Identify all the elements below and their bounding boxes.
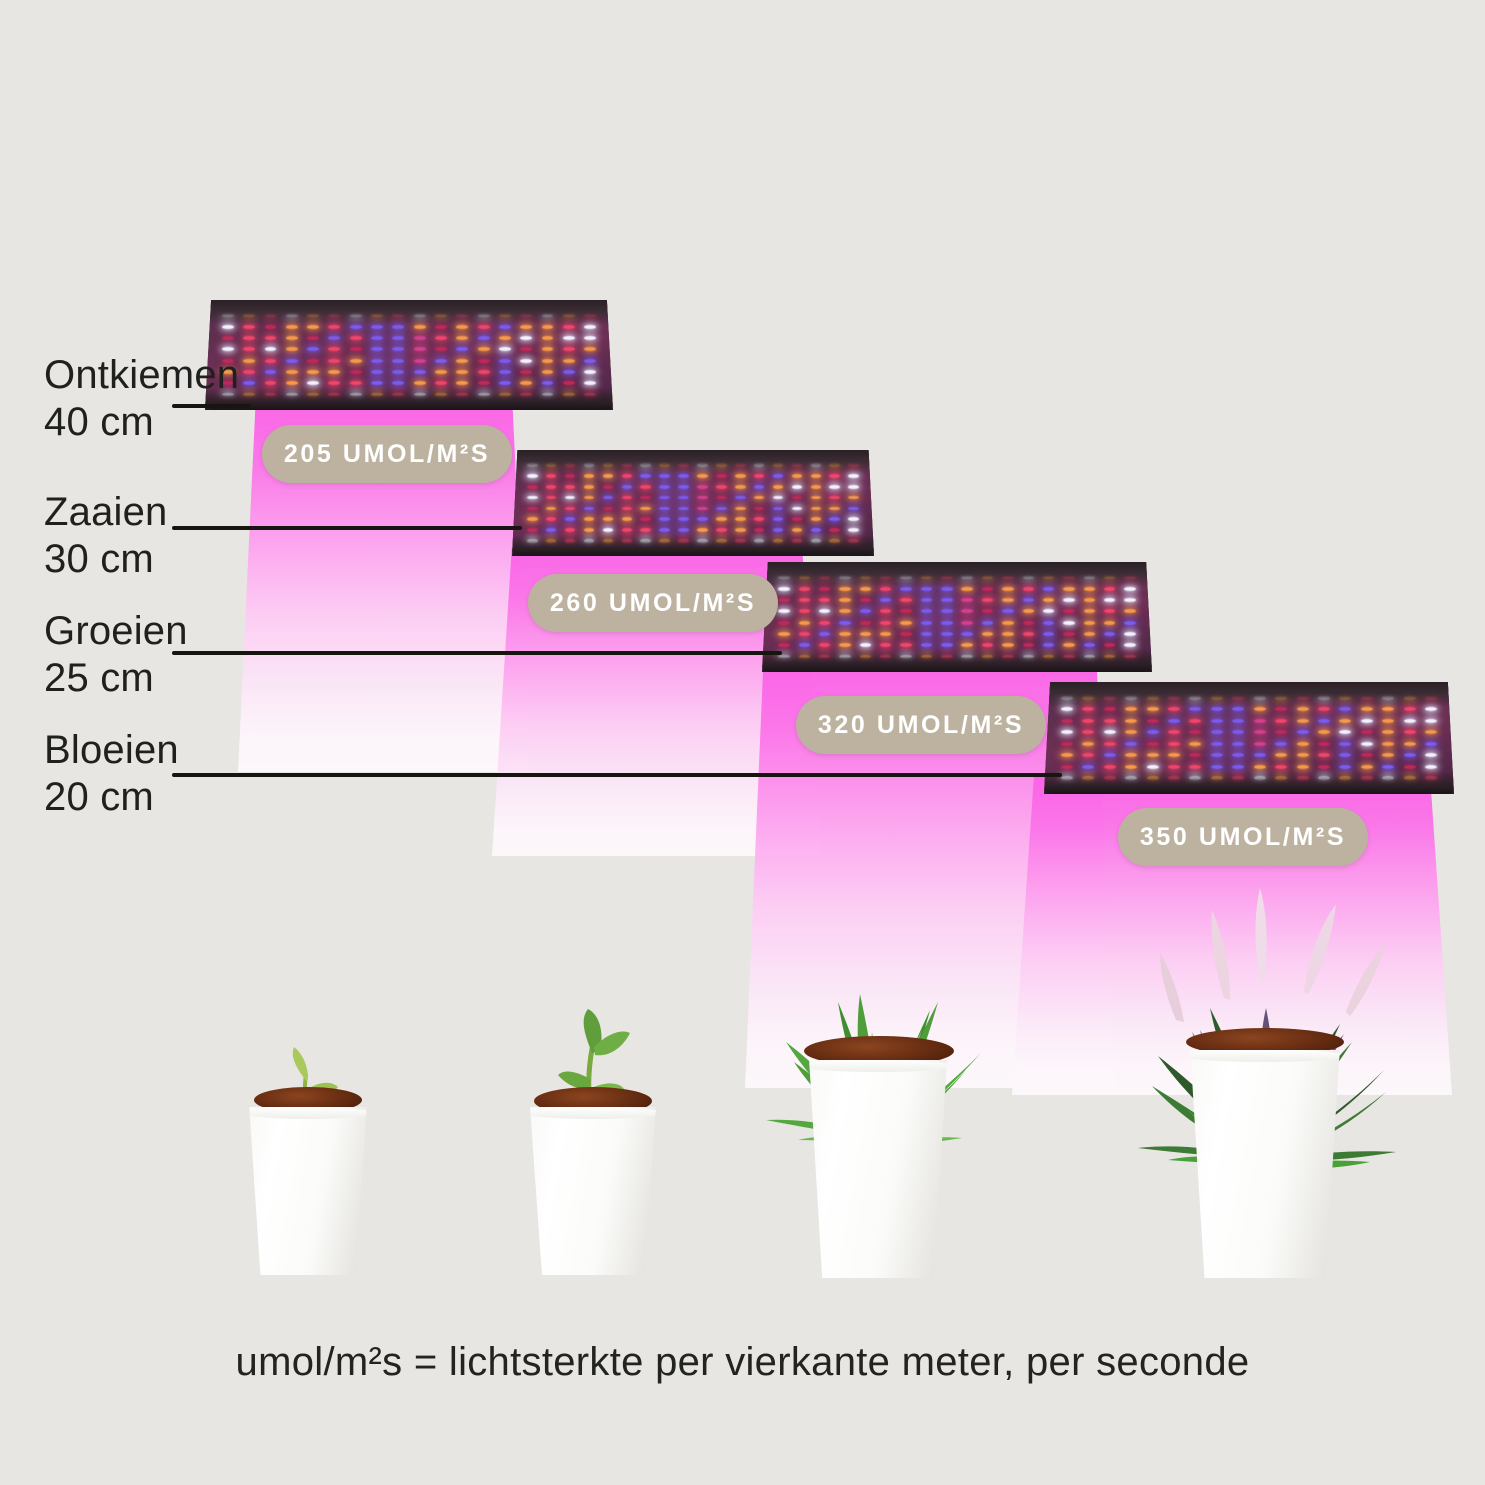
led-dot (307, 393, 319, 397)
led-dot (328, 381, 340, 385)
led-dot (1297, 742, 1309, 746)
led-dot (1404, 776, 1416, 780)
led-dot (1232, 696, 1244, 700)
led-dot (414, 381, 426, 385)
led-dot (243, 370, 255, 374)
led-dot (678, 485, 689, 489)
led-dot (1211, 707, 1223, 711)
led-dot (456, 393, 468, 397)
led-dot (1339, 696, 1351, 700)
led-dot (435, 325, 447, 329)
led-dot (1125, 696, 1137, 700)
led-dot (799, 609, 810, 613)
led-dot (1254, 719, 1266, 723)
led-dot (829, 528, 840, 532)
led-dot (478, 325, 490, 329)
led-dot (659, 507, 670, 511)
led-dot (1061, 776, 1073, 780)
led-dot (1168, 730, 1180, 734)
led-dot (499, 393, 511, 397)
led-dot (659, 528, 670, 532)
led-dot (546, 539, 557, 543)
led-dot (941, 598, 952, 602)
led-dot (1168, 776, 1180, 780)
led-dot (1297, 776, 1309, 780)
led-dot (371, 336, 383, 340)
led-dot (1084, 609, 1095, 613)
led-dot (716, 517, 727, 521)
led-dot (961, 609, 972, 613)
led-dot (792, 507, 803, 511)
led-dot (829, 463, 840, 467)
led-dot (961, 598, 972, 602)
led-dot (456, 359, 468, 363)
led-dot (622, 507, 633, 511)
led-dot (1084, 655, 1095, 659)
led-dot (735, 507, 746, 511)
led-grid (1056, 692, 1441, 784)
led-dot (527, 507, 538, 511)
led-dot (265, 325, 277, 329)
led-dot (1043, 576, 1054, 580)
led-dot (478, 347, 490, 351)
led-dot (792, 485, 803, 489)
led-dot (1275, 742, 1287, 746)
led-dot (1061, 730, 1073, 734)
led-dot (754, 528, 765, 532)
led-dot (1104, 576, 1115, 580)
led-dot (1232, 719, 1244, 723)
led-dot (697, 528, 708, 532)
led-dot (716, 463, 727, 467)
ppfd-badge-groeien: 320 UMOL/M²S (796, 696, 1046, 754)
led-dot (1104, 719, 1116, 723)
led-dot (414, 393, 426, 397)
led-dot (1211, 765, 1223, 769)
led-dot (982, 621, 993, 625)
led-dot (1124, 643, 1135, 647)
led-dot (435, 347, 447, 351)
led-dot (1361, 730, 1373, 734)
led-dot (773, 539, 784, 543)
led-dot (754, 507, 765, 511)
led-dot (678, 463, 689, 467)
led-dot (1361, 707, 1373, 711)
led-dot (819, 621, 830, 625)
led-dot (1043, 632, 1054, 636)
led-dot (1104, 753, 1116, 757)
led-dot (829, 474, 840, 478)
led-dot (527, 496, 538, 500)
led-dot (584, 528, 595, 532)
led-dot (1318, 742, 1330, 746)
led-dot (563, 370, 575, 374)
led-dot (307, 347, 319, 351)
led-dot (1404, 707, 1416, 711)
led-dot (1168, 696, 1180, 700)
led-dot (546, 528, 557, 532)
led-dot (697, 507, 708, 511)
led-dot (982, 576, 993, 580)
led-dot (1254, 730, 1266, 734)
led-dot (1318, 696, 1330, 700)
led-dot (941, 643, 952, 647)
led-dot (848, 474, 859, 478)
led-dot (307, 325, 319, 329)
led-dot (1361, 719, 1373, 723)
led-dot (659, 517, 670, 521)
led-dot (435, 393, 447, 397)
led-dot (678, 517, 689, 521)
ppfd-badge-zaaien: 260 UMOL/M²S (528, 574, 778, 632)
led-dot (499, 359, 511, 363)
led-dot (1254, 707, 1266, 711)
led-dot (520, 381, 532, 385)
led-dot (286, 393, 298, 397)
led-dot (941, 655, 952, 659)
led-dot (839, 643, 850, 647)
led-dot (563, 336, 575, 340)
led-dot (1361, 765, 1373, 769)
led-dot (1061, 719, 1073, 723)
led-dot (328, 393, 340, 397)
led-dot (921, 609, 932, 613)
led-dot (1297, 707, 1309, 711)
led-dot (659, 485, 670, 489)
led-dot (1168, 753, 1180, 757)
led-dot (1084, 621, 1095, 625)
led-dot (1254, 776, 1266, 780)
led-dot (860, 655, 871, 659)
led-dot (622, 463, 633, 467)
led-dot (1168, 742, 1180, 746)
led-dot (1147, 696, 1159, 700)
led-dot (414, 314, 426, 318)
led-dot (584, 393, 596, 397)
stage-name: Groeien (44, 609, 188, 653)
led-dot (778, 632, 789, 636)
led-dot (697, 496, 708, 500)
led-dot (563, 381, 575, 385)
led-dot (900, 576, 911, 580)
led-dot (328, 359, 340, 363)
led-dot (1425, 707, 1437, 711)
led-dot (307, 336, 319, 340)
led-dot (1382, 707, 1394, 711)
led-dot (1125, 742, 1137, 746)
led-dot (1275, 776, 1287, 780)
led-dot (921, 655, 932, 659)
led-dot (678, 539, 689, 543)
led-dot (1404, 765, 1416, 769)
led-dot (1104, 587, 1115, 591)
led-dot (754, 496, 765, 500)
plant-pot (796, 1060, 960, 1278)
led-dot (414, 325, 426, 329)
led-dot (1082, 776, 1094, 780)
led-dot (792, 517, 803, 521)
led-dot (307, 381, 319, 385)
led-dot (1084, 598, 1095, 602)
led-dot (1125, 719, 1137, 723)
led-dot (1382, 696, 1394, 700)
led-dot (773, 485, 784, 489)
led-dot (1061, 753, 1073, 757)
led-dot (839, 587, 850, 591)
led-dot (1254, 742, 1266, 746)
led-dot (1425, 765, 1437, 769)
led-dot (563, 314, 575, 318)
led-dot (350, 336, 362, 340)
led-dot (1104, 632, 1115, 636)
led-dot (735, 485, 746, 489)
led-dot (1425, 776, 1437, 780)
led-dot (527, 517, 538, 521)
led-dot (811, 539, 822, 543)
led-dot (350, 370, 362, 374)
led-dot (499, 336, 511, 340)
led-dot (1211, 753, 1223, 757)
led-dot (527, 539, 538, 543)
led-dot (1043, 587, 1054, 591)
led-dot (1254, 696, 1266, 700)
led-dot (900, 609, 911, 613)
led-dot (499, 325, 511, 329)
led-dot (860, 587, 871, 591)
led-dot (1061, 742, 1073, 746)
led-dot (961, 621, 972, 625)
led-dot (392, 347, 404, 351)
led-dot (1254, 753, 1266, 757)
led-dot (584, 496, 595, 500)
led-dot (1189, 742, 1201, 746)
led-dot (697, 485, 708, 489)
led-dot (456, 381, 468, 385)
led-dot (1275, 753, 1287, 757)
led-dot (773, 496, 784, 500)
led-dot (1043, 655, 1054, 659)
led-dot (819, 655, 830, 659)
led-dot (941, 632, 952, 636)
led-dot (1063, 621, 1074, 625)
panel-surface (512, 450, 874, 556)
led-dot (811, 517, 822, 521)
led-dot (265, 370, 277, 374)
stage-name: Zaaien (44, 490, 168, 534)
led-dot (716, 485, 727, 489)
led-dot (1232, 707, 1244, 711)
led-dot (1023, 609, 1034, 613)
led-dot (900, 643, 911, 647)
led-dot (1104, 707, 1116, 711)
led-dot (1002, 643, 1013, 647)
led-dot (499, 347, 511, 351)
led-dot (1189, 730, 1201, 734)
led-dot (371, 370, 383, 374)
led-dot (265, 314, 277, 318)
led-dot (799, 621, 810, 625)
led-dot (546, 507, 557, 511)
led-dot (819, 598, 830, 602)
led-dot (716, 539, 727, 543)
led-dot (1125, 707, 1137, 711)
led-dot (839, 632, 850, 636)
led-dot (1297, 730, 1309, 734)
led-dot (754, 517, 765, 521)
led-dot (603, 496, 614, 500)
led-dot (799, 598, 810, 602)
led-dot (286, 381, 298, 385)
led-dot (839, 655, 850, 659)
led-dot (941, 576, 952, 580)
led-dot (848, 496, 859, 500)
led-dot (880, 621, 891, 625)
led-dot (392, 381, 404, 385)
led-dot (1404, 753, 1416, 757)
led-dot (716, 507, 727, 511)
led-panel-groeien[interactable] (762, 562, 1152, 672)
led-dot (799, 655, 810, 659)
led-dot (1104, 730, 1116, 734)
stage-distance: 40 cm (44, 399, 239, 446)
stage-distance: 25 cm (44, 655, 188, 702)
led-dot (350, 359, 362, 363)
led-dot (1023, 621, 1034, 625)
led-dot (773, 507, 784, 511)
led-panel-bloeien[interactable] (1044, 682, 1454, 794)
led-dot (1084, 643, 1095, 647)
led-dot (1023, 643, 1034, 647)
led-dot (1318, 719, 1330, 723)
led-dot (328, 314, 340, 318)
led-dot (880, 598, 891, 602)
stage-distance: 30 cm (44, 536, 168, 583)
led-dot (1104, 776, 1116, 780)
led-dot (1082, 696, 1094, 700)
led-dot (1275, 707, 1287, 711)
led-dot (622, 474, 633, 478)
led-dot (584, 474, 595, 478)
ppfd-badge-ontkiemen: 205 UMOL/M²S (262, 425, 512, 483)
led-dot (1147, 753, 1159, 757)
led-dot (819, 587, 830, 591)
led-dot (1168, 765, 1180, 769)
led-dot (1043, 609, 1054, 613)
led-dot (222, 314, 234, 318)
led-dot (456, 347, 468, 351)
led-dot (1211, 730, 1223, 734)
led-dot (1147, 776, 1159, 780)
led-dot (829, 517, 840, 521)
led-grid (217, 310, 601, 400)
led-dot (1168, 719, 1180, 723)
led-dot (941, 609, 952, 613)
led-panel-ontkiemen[interactable] (205, 300, 613, 410)
led-dot (778, 598, 789, 602)
led-dot (286, 325, 298, 329)
panel-surface (205, 300, 613, 410)
led-dot (1147, 742, 1159, 746)
led-dot (307, 370, 319, 374)
led-dot (265, 347, 277, 351)
led-dot (603, 474, 614, 478)
led-dot (603, 463, 614, 467)
led-dot (1189, 707, 1201, 711)
pot-rim (803, 1060, 954, 1072)
led-dot (286, 359, 298, 363)
led-dot (678, 507, 689, 511)
led-dot (792, 528, 803, 532)
led-dot (1023, 587, 1034, 591)
led-dot (839, 609, 850, 613)
led-dot (640, 528, 651, 532)
led-dot (754, 463, 765, 467)
led-dot (307, 314, 319, 318)
flower-spathes (1160, 888, 1386, 1022)
led-dot (1125, 765, 1137, 769)
led-dot (839, 598, 850, 602)
led-dot (1063, 609, 1074, 613)
led-dot (982, 632, 993, 636)
led-dot (371, 325, 383, 329)
led-dot (848, 539, 859, 543)
led-dot (848, 517, 859, 521)
led-dot (392, 336, 404, 340)
led-dot (1082, 742, 1094, 746)
led-dot (1043, 621, 1054, 625)
led-dot (735, 517, 746, 521)
led-dot (778, 587, 789, 591)
led-dot (1124, 576, 1135, 580)
led-dot (829, 507, 840, 511)
led-dot (829, 485, 840, 489)
led-dot (563, 347, 575, 351)
led-dot (735, 528, 746, 532)
led-dot (1002, 621, 1013, 625)
led-dot (243, 325, 255, 329)
led-dot (1339, 742, 1351, 746)
led-dot (921, 632, 932, 636)
led-dot (286, 347, 298, 351)
led-dot (678, 528, 689, 532)
led-panel-zaaien[interactable] (512, 450, 874, 556)
led-dot (1061, 696, 1073, 700)
led-dot (961, 576, 972, 580)
led-dot (640, 496, 651, 500)
led-dot (697, 463, 708, 467)
led-dot (584, 485, 595, 489)
led-dot (735, 463, 746, 467)
stage-label-bloeien: Bloeien 20 cm (44, 727, 179, 821)
led-dot (961, 643, 972, 647)
led-dot (735, 496, 746, 500)
led-dot (811, 496, 822, 500)
led-dot (799, 632, 810, 636)
led-dot (1063, 643, 1074, 647)
led-dot (1084, 576, 1095, 580)
led-dot (697, 517, 708, 521)
led-dot (603, 528, 614, 532)
led-dot (659, 539, 670, 543)
led-dot (243, 393, 255, 397)
led-dot (900, 587, 911, 591)
led-dot (1043, 643, 1054, 647)
led-dot (328, 347, 340, 351)
led-dot (478, 336, 490, 340)
led-dot (1189, 776, 1201, 780)
led-dot (603, 485, 614, 489)
led-dot (328, 336, 340, 340)
